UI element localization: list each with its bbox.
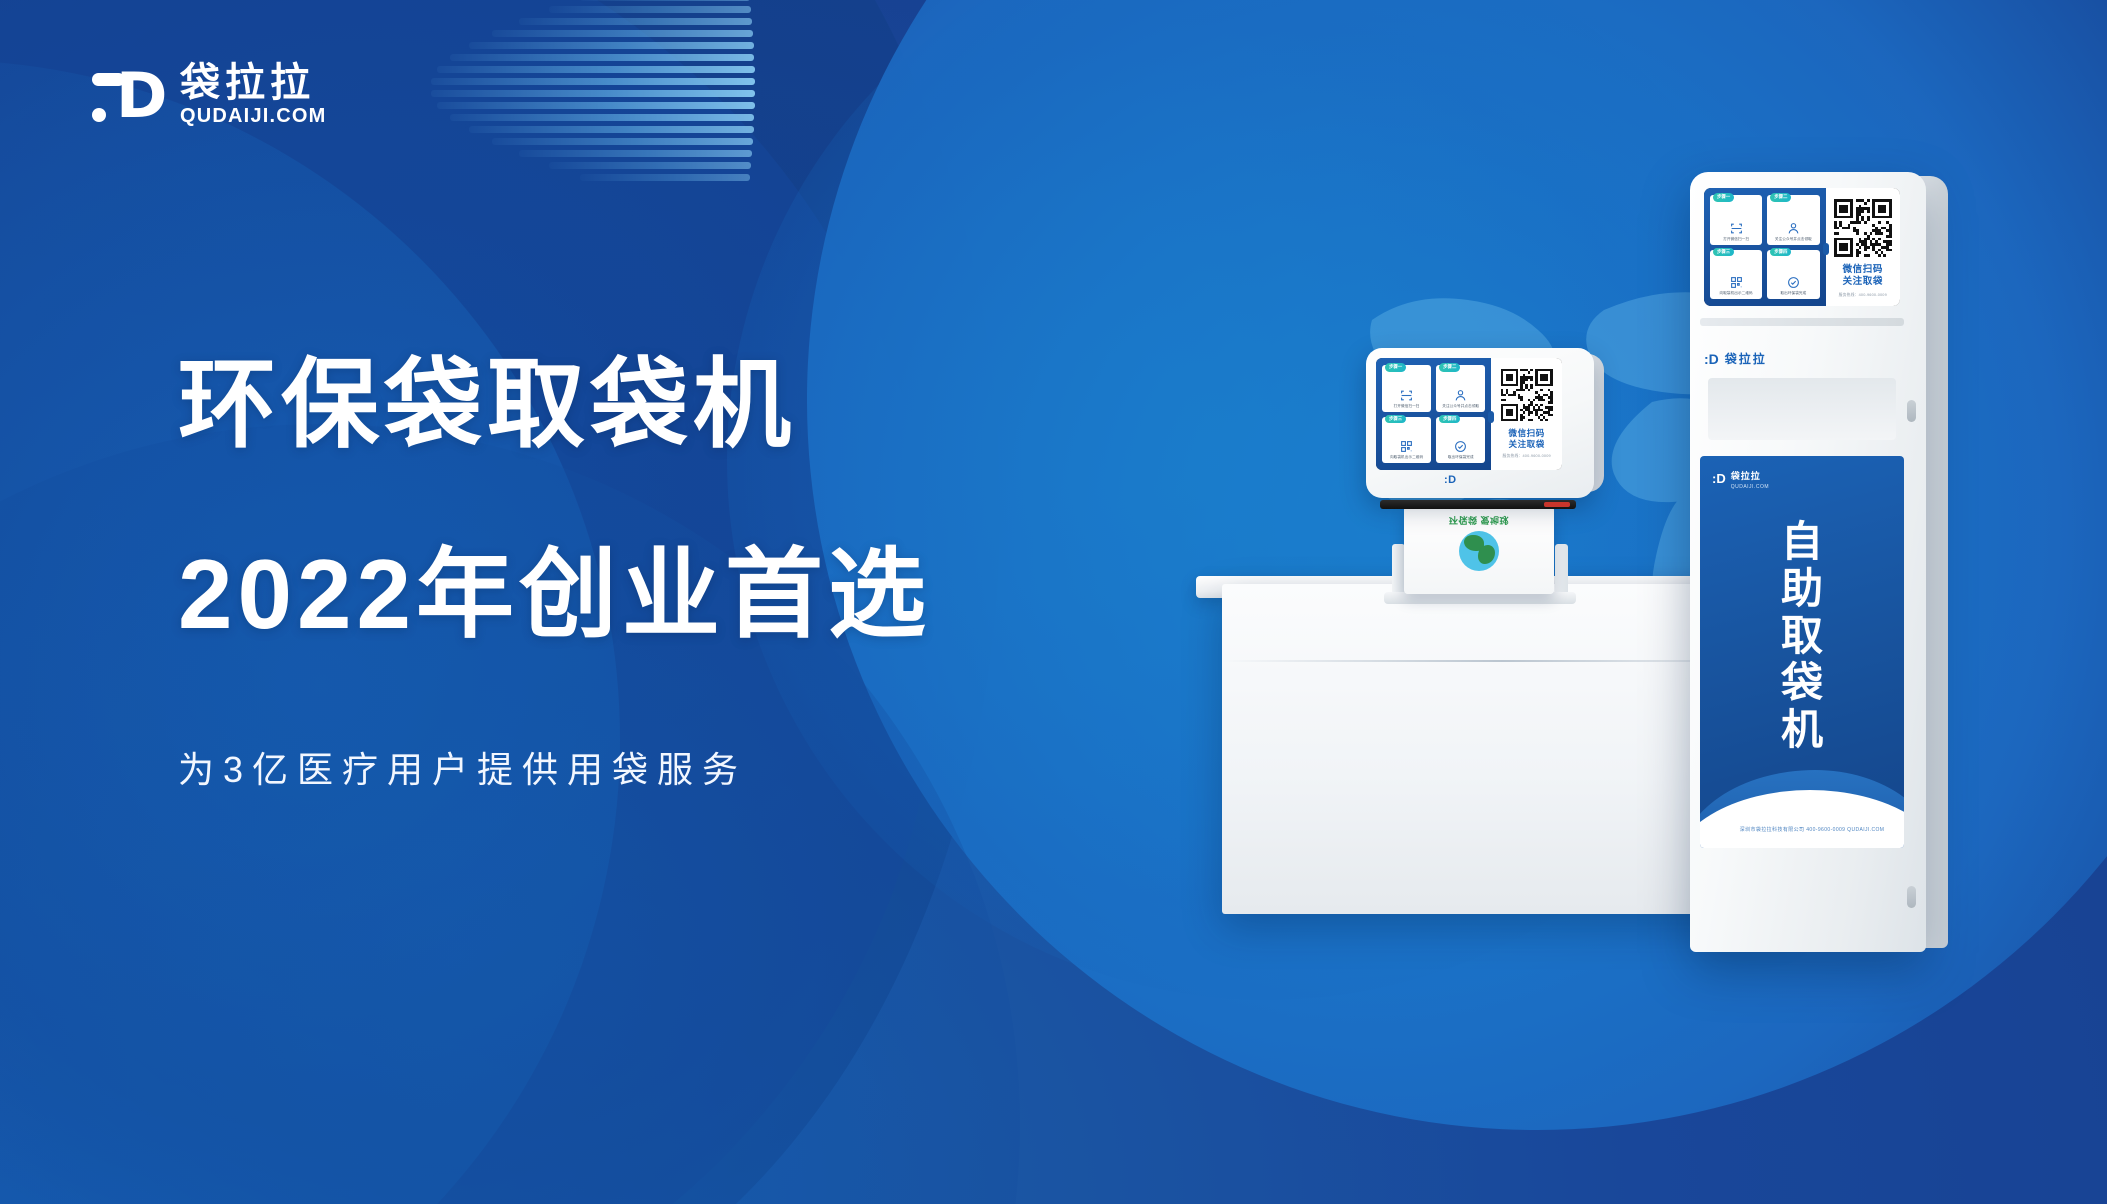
step-card-1[interactable]: 步骤一打开微信扫一扫 [1382,365,1431,412]
step-card-4[interactable]: 步骤四取出环保袋完成 [1436,417,1485,464]
step-tag-2: 步骤二 [1439,363,1460,372]
panel-brand-domain: QUDAIJI.COM [1731,484,1769,490]
cta-line-1: 微信扫码 [1508,428,1544,438]
kiosk-shell: 步骤一打开微信扫一扫步骤二关注公众号并点击领取步骤三向取袋机出示二维码步骤四取出… [1690,172,1926,952]
vertical-char-2: 取 [1781,612,1823,659]
vertical-char-3: 袋 [1781,659,1823,706]
step-tag-3: 步骤三 [1385,415,1406,424]
marketing-banner: D 袋拉拉 QUDAIJI.COM 环保袋取袋机 2022年创业首选 为3亿医疗… [0,0,2107,1204]
vertical-char-4: 机 [1781,706,1823,753]
bag-dispense-slot [1380,500,1576,509]
decorative-stripes [430,0,900,193]
brand-name-cn: 袋拉拉 [180,62,327,104]
cta-line-2: 关注取袋 [1508,439,1544,449]
panel-footer: 深圳市袋拉拉科技有限公司 400-9600-0009 QUDAIJI.COM [1710,816,1904,842]
step-label-2: 关注公众号并点击领取 [1775,237,1812,242]
logo-mark-icon: D [92,66,162,128]
dispensed-eco-bag: 环保袋 爱地球 [1404,508,1554,594]
step-card-2[interactable]: 步骤二关注公众号并点击领取 [1767,195,1819,245]
step-card-2[interactable]: 步骤二关注公众号并点击领取 [1436,365,1485,412]
step-label-3: 向取袋机出示二维码 [1720,291,1753,296]
screen-qr-panel: 微信扫码 关注取袋 服务热线：400-9600-0009 [1491,358,1562,470]
panel-logo-mark: :D [1712,471,1726,486]
vertical-char-0: 自 [1781,518,1823,565]
step-card-1[interactable]: 步骤一打开微信扫一扫 [1710,195,1762,245]
wechat-follow-icon [1787,222,1800,235]
floor-standing-kiosk: 步骤一打开微信扫一扫步骤二关注公众号并点击领取步骤三向取袋机出示二维码步骤四取出… [1690,172,1950,952]
step-tag-4: 步骤四 [1439,415,1460,424]
kiosk-handle-upper[interactable] [1907,400,1916,422]
check-circle-icon [1787,276,1800,289]
step-tag-1: 步骤一 [1713,193,1734,202]
kiosk-leg-right [1555,544,1568,596]
kiosk-vertical-title: 自助取袋机 [1700,518,1904,753]
kiosk-brand-mark: :D [1444,474,1457,486]
kiosk-bag-outlet-recess [1708,378,1896,440]
screen-notch [1823,243,1829,255]
brand-logo: D 袋拉拉 QUDAIJI.COM [92,62,327,128]
wechat-follow-icon [1454,389,1467,402]
qr-code-icon [1730,276,1743,289]
eco-bag-text: 环保袋 爱地球 [1449,514,1509,527]
wechat-qr-code[interactable] [1499,367,1555,423]
hero-copy-block: 环保袋取袋机 2022年创业首选 为3亿医疗用户提供用袋服务 [178,355,931,793]
step-label-1: 打开微信扫一扫 [1723,237,1749,242]
screen-hotline: 服务热线：400-9600-0009 [1503,454,1551,459]
kiosk-brand-row: :D 袋拉拉 [1704,350,1900,367]
panel-brand-logo: :D 袋拉拉 QUDAIJI.COM [1712,466,1769,490]
qr-code-icon [1400,440,1413,453]
wechat-qr-code[interactable] [1832,197,1894,259]
screen-qr-panel: 微信扫码 关注取袋 服务热线：400-9600-0009 [1826,188,1900,306]
kiosk-divider-band [1700,318,1904,326]
brand-domain: QUDAIJI.COM [180,106,327,126]
step-tag-1: 步骤一 [1385,363,1406,372]
step-label-2: 关注公众号并点击领取 [1442,404,1479,409]
step-card-3[interactable]: 步骤三向取袋机出示二维码 [1382,417,1431,464]
scan-qr-icon [1400,389,1413,402]
headline-line-2: 2022年创业首选 [178,545,931,643]
kiosk-housing: 步骤一打开微信扫一扫步骤二关注公众号并点击领取步骤三向取袋机出示二维码步骤四取出… [1366,348,1594,498]
step-tag-2: 步骤二 [1770,193,1791,202]
screen-steps-panel: 步骤一打开微信扫一扫步骤二关注公众号并点击领取步骤三向取袋机出示二维码步骤四取出… [1704,188,1826,306]
kiosk-handle-lower[interactable] [1907,886,1916,908]
screen-notch [1488,411,1494,423]
step-label-4: 取出环保袋完成 [1448,455,1474,460]
logo-dot-shape [92,108,106,122]
scan-qr-icon [1730,222,1743,235]
step-card-3[interactable]: 步骤三向取袋机出示二维码 [1710,250,1762,300]
step-label-1: 打开微信扫一扫 [1394,404,1420,409]
panel-brand-name: 袋拉拉 [1731,471,1761,481]
step-label-3: 向取袋机出示二维码 [1390,455,1423,460]
hero-subtitle: 为3亿医疗用户提供用袋服务 [178,741,931,793]
step-tag-4: 步骤四 [1770,248,1791,257]
panel-footer-text: 深圳市袋拉拉科技有限公司 400-9600-0009 QUDAIJI.COM [1740,826,1885,833]
logo-letter-d: D [116,68,162,126]
check-circle-icon [1454,440,1467,453]
step-label-4: 取出环保袋完成 [1780,291,1806,296]
kiosk-brand-mark: :D [1704,351,1719,367]
kiosk-screen-tall[interactable]: 步骤一打开微信扫一扫步骤二关注公众号并点击领取步骤三向取袋机出示二维码步骤四取出… [1704,188,1900,306]
headline-line-1: 环保袋取袋机 [178,355,931,453]
screen-steps-panel: 步骤一打开微信扫一扫步骤二关注公众号并点击领取步骤三向取袋机出示二维码步骤四取出… [1376,358,1491,470]
desktop-kiosk: 环保袋 爱地球 步骤一打开微信扫一扫步骤二关注公众号并点击领取步骤三向取袋机出示… [1366,348,1618,598]
step-tag-3: 步骤三 [1713,248,1734,257]
step-card-4[interactable]: 步骤四取出环保袋完成 [1767,250,1819,300]
kiosk-brand-name: 袋拉拉 [1725,350,1767,367]
screen-hotline: 服务热线：400-9600-0009 [1839,293,1887,298]
kiosk-front-panel: :D 袋拉拉 QUDAIJI.COM 自助取袋机 深圳市袋拉拉科技有限公司 40… [1700,456,1904,848]
cta-line-2: 关注取袋 [1843,276,1883,287]
green-globe-icon [1459,531,1499,571]
vertical-char-1: 助 [1781,565,1823,612]
cta-line-1: 微信扫码 [1843,264,1883,275]
kiosk-screen-small[interactable]: 步骤一打开微信扫一扫步骤二关注公众号并点击领取步骤三向取袋机出示二维码步骤四取出… [1376,358,1562,470]
